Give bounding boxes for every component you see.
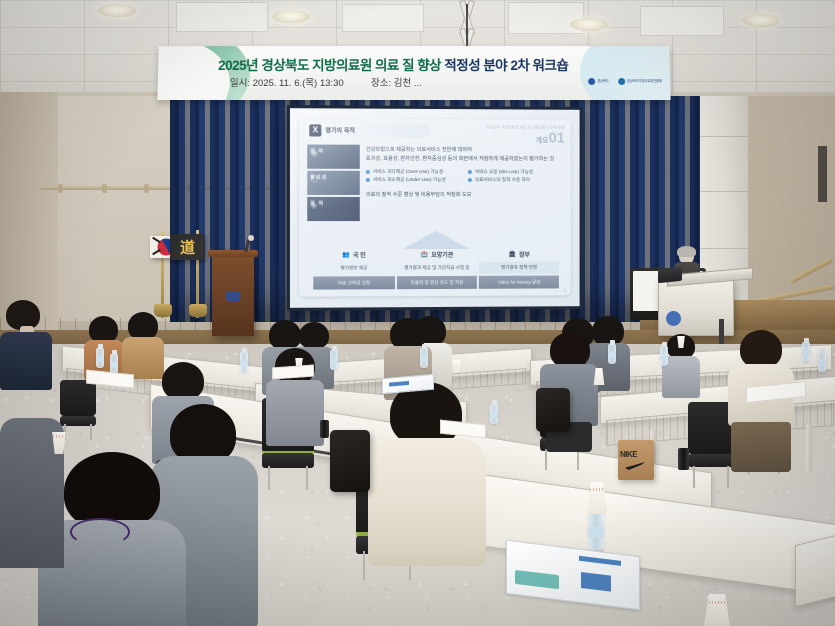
slide-column-header: 🏛정부 bbox=[479, 247, 559, 262]
presentation-slide: X 평가의 목적 요양급여 적정성평가 개요 및 의료질평가 연계 방향 개요0… bbox=[299, 118, 571, 296]
ceiling-light bbox=[98, 4, 136, 17]
banner-logo: 경상북도 bbox=[588, 78, 609, 85]
slide-purpose-text: 의료의 질적 수준 향상 및 비용부담의 적정화 도모 bbox=[366, 191, 563, 198]
slide-column-header: 🏥요양기관 bbox=[397, 247, 478, 262]
slide-cell: 평가결과 정책 반영 bbox=[479, 262, 559, 274]
water-bottle bbox=[802, 342, 810, 362]
logo-mark-icon bbox=[618, 78, 625, 85]
banner-place-value: 김천 ... bbox=[394, 78, 422, 89]
slide-bullet-list: 서비스 과다제공 (Over-Use) 가능성 서비스 오용 (Mis-Use)… bbox=[366, 169, 563, 183]
conference-room-photo: 道 X 평가의 목적 요양급여 적정성평가 개요 및 의료질평가 연계 방향 개… bbox=[0, 0, 835, 626]
presenter-laptop bbox=[658, 267, 682, 284]
slide-cell: 평가정보 제공 bbox=[313, 262, 394, 274]
slide-side-block-icon: ⬡ bbox=[310, 174, 354, 193]
water-bottle bbox=[96, 348, 104, 368]
banner-subtitle: 일시: 2025. 11. 6.(목) 13:30 장소: 김천 ... bbox=[230, 75, 422, 89]
event-banner: 2025년 경상북도 지방의료원 의료 질 향상 적정성 분야 2차 워크숍 일… bbox=[157, 46, 670, 100]
slide-bullet: 서비스 과소제공 (Under-Use) 가능성 bbox=[366, 177, 462, 183]
slide-page-number: 1 bbox=[564, 287, 566, 292]
organization-flag: 道 bbox=[170, 234, 204, 260]
water-bottle bbox=[608, 344, 616, 364]
shopping-bag-label: NIKE bbox=[620, 450, 637, 459]
ceiling-panel bbox=[342, 4, 424, 32]
slide-lead-line-1: 건강보험으로 제공되는 의료서비스 전반에 대하여 bbox=[366, 146, 563, 155]
slide-lead-line-2: 효과성, 효율성, 환자안전, 환자중심성 등의 측면에서 적정하게 제공하였는… bbox=[366, 155, 563, 164]
slide-side-blocks: 정 의 ◉ 필요성 ⬡ 목 적 ◈ bbox=[307, 145, 360, 224]
wall-picture-frame bbox=[818, 146, 827, 202]
ceiling-panel bbox=[508, 2, 584, 34]
slide-section-tag: 요양급여 적정성평가 개요 및 의료질평가 연계 방향 개요01 bbox=[487, 124, 565, 147]
tumbler bbox=[678, 448, 689, 470]
lectern-emblem-icon bbox=[666, 311, 681, 326]
slide-outcome-table: 👥국 민 🏥요양기관 🏛정부 평가정보 제공 평가결과 제공 및 가감지급 사업… bbox=[313, 247, 559, 290]
microphone-head bbox=[248, 235, 254, 241]
podium bbox=[212, 250, 254, 336]
slide-header: X 평가의 목적 bbox=[305, 122, 430, 138]
shopping-bag: NIKE bbox=[618, 440, 654, 480]
ceiling-light bbox=[570, 18, 608, 31]
banner-date-label: 일시 bbox=[230, 78, 248, 89]
ceiling-panel bbox=[176, 2, 268, 32]
wall-panel-left bbox=[58, 96, 171, 321]
flag-base bbox=[189, 304, 207, 317]
slide-side-block: 목 적 ◈ bbox=[307, 197, 360, 221]
logo-mark-icon bbox=[588, 78, 595, 85]
table-right bbox=[795, 535, 835, 607]
banner-place-label: 장소 bbox=[371, 78, 389, 89]
slide-body: 건강보험으로 제공되는 의료서비스 전반에 대하여 효과성, 효율성, 환자안전… bbox=[366, 146, 563, 198]
bullet-dot-icon bbox=[366, 178, 370, 182]
banner-logo-name: 경상북도지방의료원연합회 bbox=[627, 80, 662, 83]
slide-bullet: 서비스 과다제공 (Over-Use) 가능성 bbox=[366, 169, 462, 175]
ceiling-panel bbox=[640, 6, 724, 36]
water-bottle bbox=[588, 512, 604, 550]
banner-title-main: 2025년 경상북도 지방의료원 의료 질 향상 bbox=[218, 58, 441, 73]
slide-side-block: 필요성 ⬡ bbox=[307, 171, 360, 195]
attendee bbox=[266, 348, 324, 458]
chair bbox=[60, 380, 96, 440]
bullet-dot-icon bbox=[468, 178, 472, 182]
nike-swoosh-icon bbox=[625, 462, 645, 470]
slide-bullet: 의료서비스의 질적 수준 차이 bbox=[468, 177, 563, 183]
slide-column-header: 👥국 민 bbox=[313, 247, 394, 262]
banner-logo-name: 경상북도 bbox=[597, 80, 609, 83]
table-leg bbox=[806, 424, 812, 472]
banner-date-value: 2025. 11. 6.(목) 13:30 bbox=[253, 78, 344, 89]
slide-tag-number: 01 bbox=[548, 130, 564, 147]
slide-side-block: 정 의 ◉ bbox=[307, 145, 360, 169]
slide-cell: Value for Money 달성 bbox=[479, 276, 559, 289]
handbag bbox=[536, 388, 570, 432]
lectern bbox=[658, 278, 734, 336]
water-bottle bbox=[330, 350, 338, 370]
hospital-icon: 🏥 bbox=[421, 251, 428, 258]
water-bottle bbox=[660, 346, 668, 366]
banner-title-tail: 적정성 분야 2차 워크숍 bbox=[444, 58, 568, 73]
attendee bbox=[368, 382, 486, 562]
slide-bullet: 서비스 오용 (Mis-Use) 가능성 bbox=[468, 169, 563, 175]
ceiling-light bbox=[272, 10, 310, 23]
ceiling-light bbox=[742, 14, 780, 27]
banner-logo: 경상북도지방의료원연합회 bbox=[618, 78, 662, 85]
bullet-dot-icon bbox=[468, 170, 472, 174]
water-bottle bbox=[420, 348, 428, 368]
banner-logos: 경상북도 경상북도지방의료원연합회 bbox=[588, 78, 662, 85]
slide-tag-ko: 개요 bbox=[536, 137, 549, 144]
government-icon: 🏛 bbox=[508, 251, 516, 258]
water-bottle bbox=[110, 354, 118, 374]
slide-cell: 자율적 질 향상 유도 및 지원 bbox=[397, 276, 478, 289]
attendee bbox=[84, 316, 124, 378]
projection-screen: X 평가의 목적 요양급여 적정성평가 개요 및 의료질평가 연계 방향 개요0… bbox=[287, 105, 583, 311]
slide-cell: 의료 선택권 강화 bbox=[313, 276, 394, 289]
lanyard bbox=[70, 518, 130, 546]
slide-side-block-icon: ◉ bbox=[310, 148, 354, 167]
attendee bbox=[0, 300, 52, 390]
banner-title: 2025년 경상북도 지방의료원 의료 질 향상 적정성 분야 2차 워크숍 bbox=[218, 54, 644, 74]
slide-header-badge: X bbox=[309, 124, 321, 136]
water-bottle bbox=[240, 352, 248, 372]
people-icon: 👥 bbox=[342, 251, 350, 258]
bullet-dot-icon bbox=[366, 170, 370, 174]
slide-header-title: 평가의 목적 bbox=[325, 125, 355, 134]
handbag bbox=[330, 430, 370, 492]
water-bottle bbox=[490, 404, 498, 424]
slide-cell: 평가결과 제공 및 가감지급 사업 등 bbox=[397, 262, 478, 274]
water-bottle bbox=[818, 352, 826, 372]
tumbler bbox=[320, 420, 329, 438]
slide-side-block-icon: ◈ bbox=[310, 200, 354, 219]
